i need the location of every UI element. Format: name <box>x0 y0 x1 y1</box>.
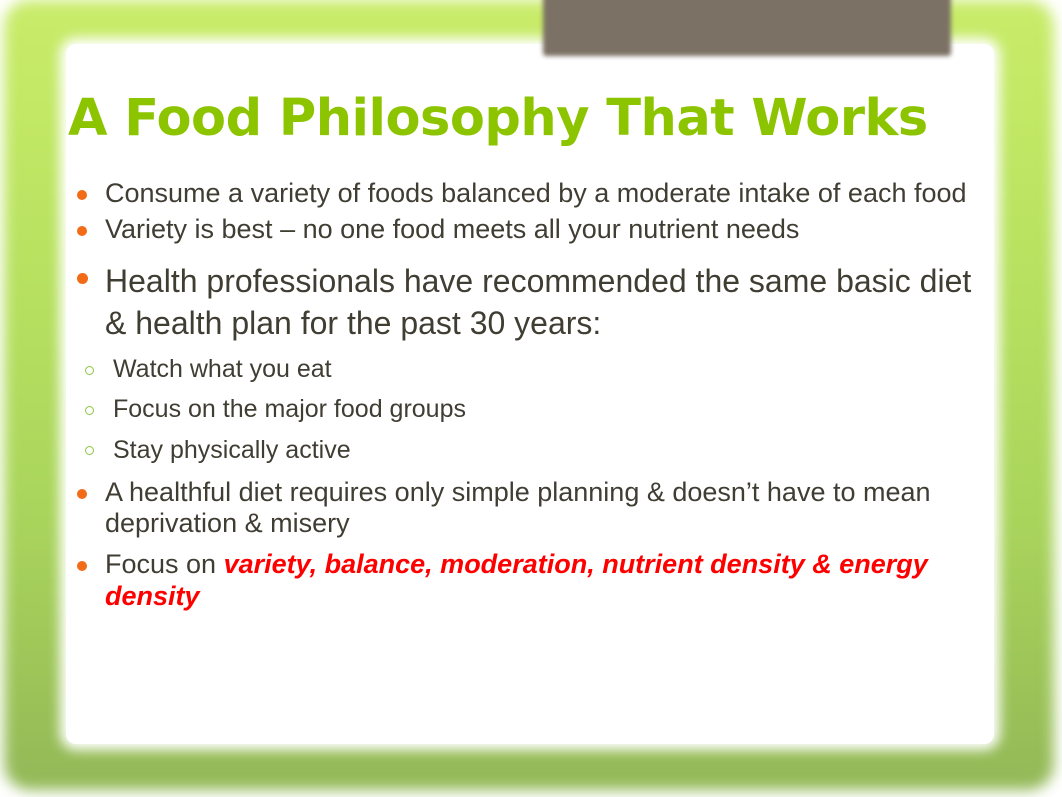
slide-content: A Food Philosophy That Works Consume a v… <box>0 0 1062 797</box>
list-item: Watch what you eat <box>68 350 998 388</box>
list-item: Focus on the major food groups <box>68 390 998 428</box>
list-item: Consume a variety of foods balanced by a… <box>68 178 998 209</box>
filled-dot-icon <box>77 489 87 499</box>
list-item-label: Variety is best – no one food meets all … <box>105 214 799 244</box>
sublist-container: Watch what you eat Focus on the major fo… <box>68 350 998 469</box>
hollow-ring-icon <box>85 366 94 375</box>
list-item: Focus on variety, balance, moderation, n… <box>68 549 998 612</box>
list-item-emphasis: variety, balance, moderation, nutrient d… <box>105 549 928 610</box>
page-title: A Food Philosophy That Works <box>68 92 968 146</box>
filled-dot-icon <box>77 190 87 200</box>
list-item: A healthful diet requires only simple pl… <box>68 477 998 540</box>
filled-dot-icon <box>77 273 88 284</box>
hollow-ring-icon <box>85 406 94 415</box>
bullet-body: Consume a variety of foods balanced by a… <box>68 178 998 617</box>
bullet-list-level1: Consume a variety of foods balanced by a… <box>68 178 998 612</box>
list-item: Variety is best – no one food meets all … <box>68 214 998 245</box>
hollow-ring-icon <box>85 446 94 455</box>
list-item: Health professionals have recommended th… <box>68 260 998 344</box>
list-item-label: Consume a variety of foods balanced by a… <box>105 178 967 208</box>
filled-dot-icon <box>77 226 87 236</box>
list-item-label: Focus on <box>105 549 224 579</box>
slide-canvas: A Food Philosophy That Works Consume a v… <box>0 0 1062 797</box>
bullet-list-level2: Watch what you eat Focus on the major fo… <box>68 350 998 469</box>
list-item-label: Watch what you eat <box>113 355 332 383</box>
list-item-label: Health professionals have recommended th… <box>105 263 971 341</box>
list-item-label: Focus on the major food groups <box>113 395 466 423</box>
list-item: Stay physically active <box>68 431 998 469</box>
list-item-label: A healthful diet requires only simple pl… <box>105 477 931 538</box>
list-item-label: Stay physically active <box>113 436 351 464</box>
filled-dot-icon <box>77 561 87 571</box>
